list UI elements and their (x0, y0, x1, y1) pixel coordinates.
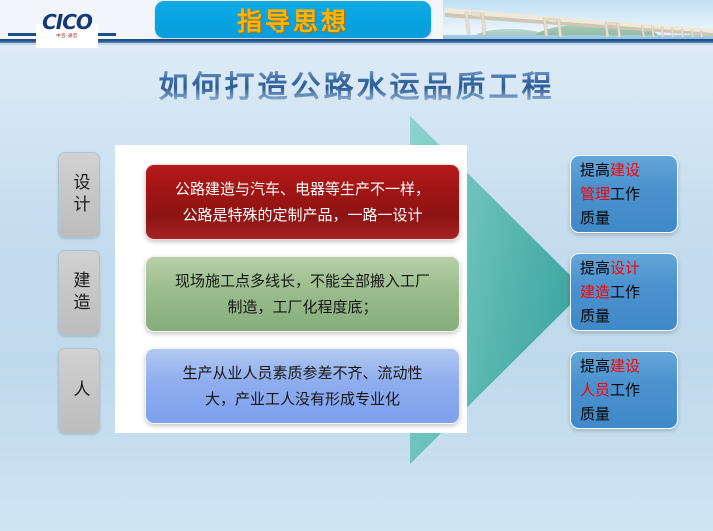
outcome-mid: 工作 (610, 283, 640, 301)
bridge-deck (445, 3, 713, 33)
outcome-mid: 工作 (610, 381, 640, 399)
sidebar-item-construction[interactable]: 建造 (58, 250, 100, 336)
outcome-highlight-2: 管理 (580, 185, 610, 203)
outcome-highlight-1: 建设 (610, 357, 640, 375)
cico-logo: CICO 中咨·通宏 (36, 24, 98, 48)
statement-line-1: 现场施工点多线长，不能全部搬入工厂 (175, 272, 430, 290)
outcome-prefix: 提高 (580, 259, 610, 277)
page-title: 如何打造公路水运品质工程 (0, 62, 713, 106)
statement-box-people[interactable]: 生产从业人员素质参差不齐、流动性 大，产业工人没有形成专业化 (145, 348, 460, 424)
statement-line-1: 公路建造与汽车、电器等生产不一样， (175, 180, 430, 198)
statement-text: 现场施工点多线长，不能全部搬入工厂 制造，工厂化程度底； (175, 268, 430, 320)
outcome-highlight-1: 设计 (610, 259, 640, 277)
slide-canvas: CICO 中咨·通宏 指导思想 如何打造公路水运品质工程 如何打造公路水运品质工… (0, 0, 713, 531)
topic-tab[interactable]: 指导思想 (155, 1, 431, 38)
statement-box-design[interactable]: 公路建造与汽车、电器等生产不一样， 公路是特殊的定制产品，一路一设计 (145, 164, 460, 240)
statement-text: 生产从业人员素质参差不齐、流动性 大，产业工人没有形成专业化 (182, 360, 422, 412)
outcome-box-management[interactable]: 提高建设管理工作质量 (570, 155, 678, 233)
statement-line-1: 生产从业人员素质参差不齐、流动性 (182, 364, 422, 382)
topic-tab-label: 指导思想 (237, 2, 349, 38)
statement-line-2: 大，产业工人没有形成专业化 (205, 390, 400, 408)
logo-dash-left (8, 33, 36, 36)
bridge-photo-banner (443, 0, 713, 41)
outcome-box-design-build[interactable]: 提高设计建造工作质量 (570, 253, 678, 331)
outcome-suffix: 质量 (580, 307, 610, 325)
outcome-text: 提高设计建造工作质量 (580, 256, 640, 328)
statement-line-2: 制造，工厂化程度底； (227, 298, 377, 316)
outcome-text: 提高建设管理工作质量 (580, 158, 640, 230)
header-divider-line-soft (0, 43, 713, 45)
outcome-box-personnel[interactable]: 提高建设人员工作质量 (570, 351, 678, 429)
statement-text: 公路建造与汽车、电器等生产不一样， 公路是特殊的定制产品，一路一设计 (175, 176, 430, 228)
outcome-suffix: 质量 (580, 405, 610, 423)
sidebar-item-people[interactable]: 人 (58, 348, 100, 434)
logo-subtitle: 中咨·通宏 (56, 32, 78, 38)
statement-line-2: 公路是特殊的定制产品，一路一设计 (182, 206, 422, 224)
outcome-text: 提高建设人员工作质量 (580, 354, 640, 426)
logo-wordmark: CICO (42, 14, 92, 31)
outcome-highlight-2: 建造 (580, 283, 610, 301)
sidebar-item-design[interactable]: 设计 (58, 152, 100, 238)
outcome-highlight-2: 人员 (580, 381, 610, 399)
outcome-prefix: 提高 (580, 161, 610, 179)
sidebar-item-label: 人 (71, 380, 88, 402)
sidebar-item-label: 建造 (71, 271, 88, 315)
sidebar-item-label: 设计 (71, 173, 88, 217)
outcome-mid: 工作 (610, 185, 640, 203)
logo-dash-right (98, 33, 116, 36)
outcome-prefix: 提高 (580, 357, 610, 375)
outcome-highlight-1: 建设 (610, 161, 640, 179)
outcome-suffix: 质量 (580, 209, 610, 227)
statement-box-construction[interactable]: 现场施工点多线长，不能全部搬入工厂 制造，工厂化程度底； (145, 256, 460, 332)
